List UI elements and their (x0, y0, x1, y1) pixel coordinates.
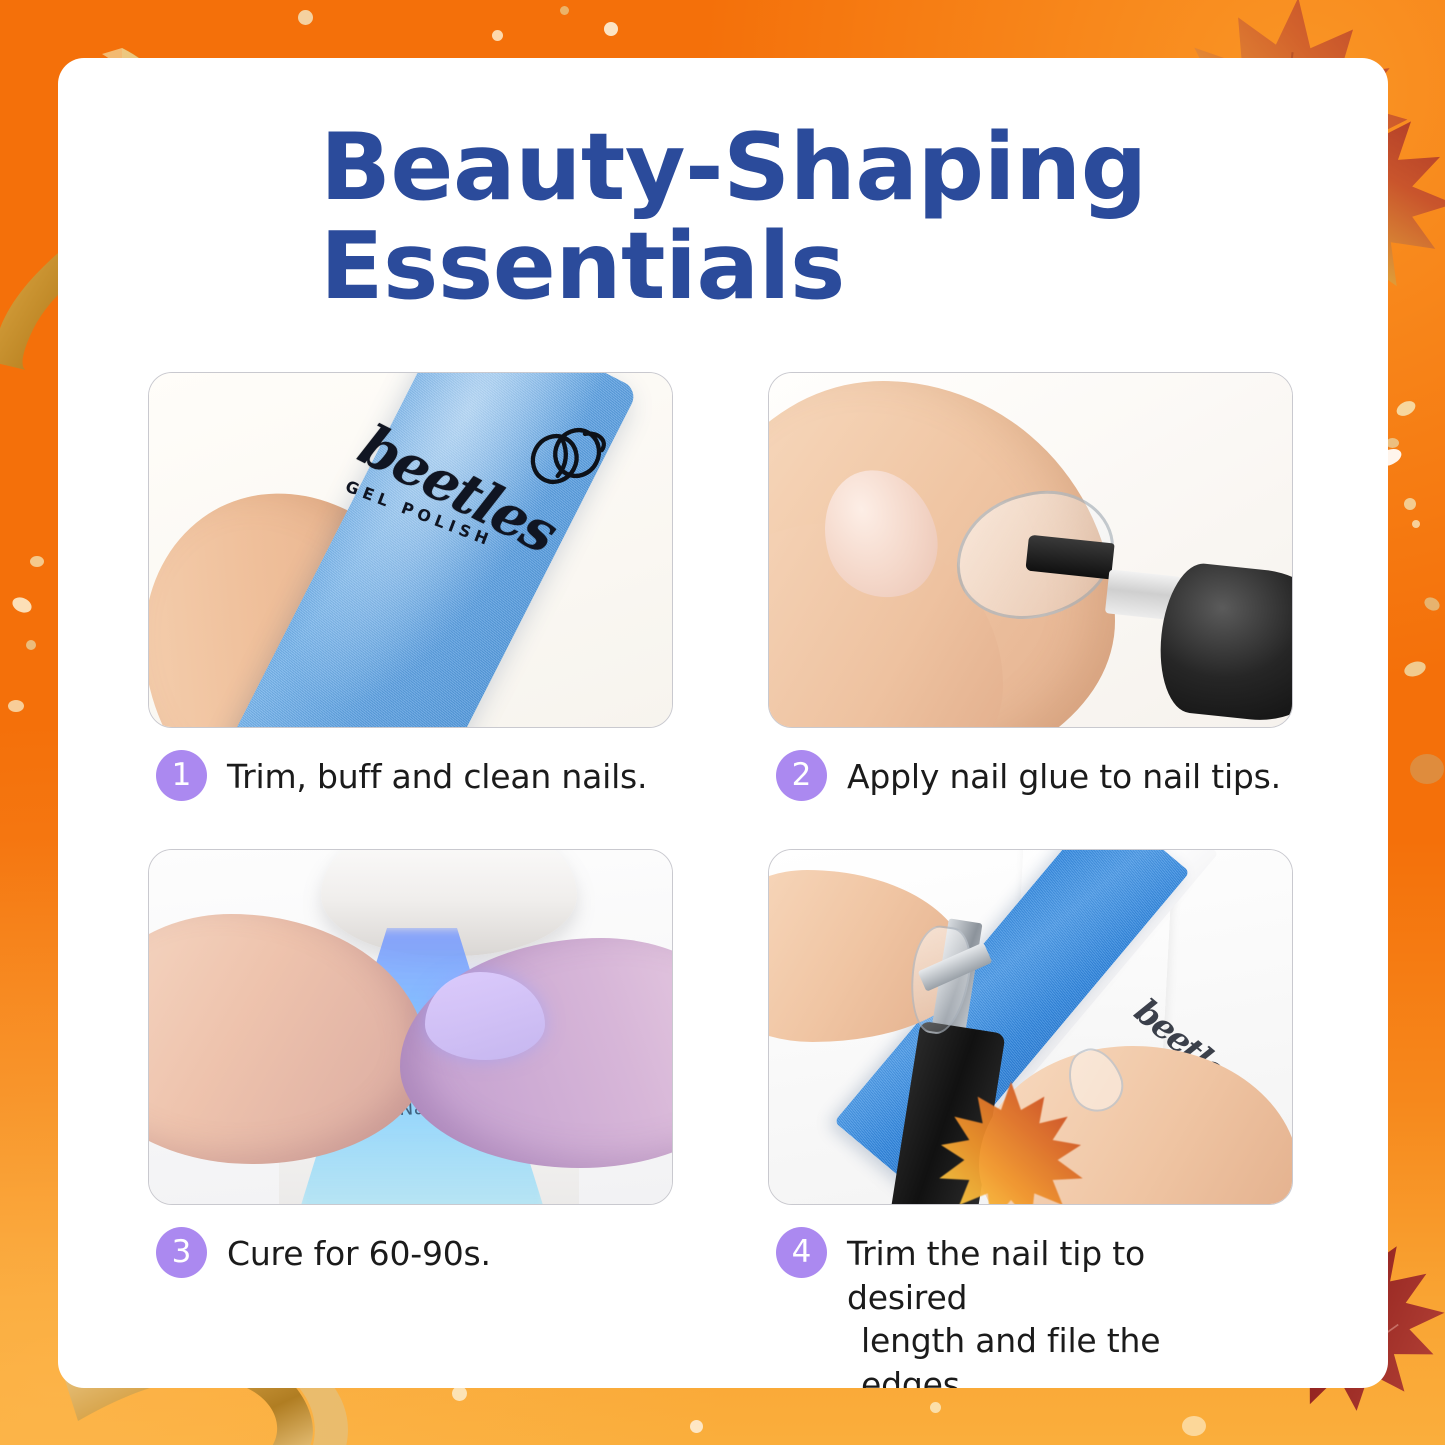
step-4-number-badge: 4 (776, 1227, 827, 1278)
step-4-caption: Trim the nail tip to desired length and … (847, 1227, 1267, 1388)
step-1-number-badge: 1 (156, 750, 207, 801)
step-3-caption-row: 3 Cure for 60-90s. (148, 1227, 673, 1278)
step-1-caption-row: 1 Trim, buff and clean nails. (148, 750, 673, 801)
step-2-photo (768, 372, 1293, 728)
step-4-caption-line-2: length and file the edges. (847, 1319, 1267, 1388)
step-item-1: beetles GEL POLISH 1 Trim, buff (148, 372, 673, 801)
content-card: Beauty-Shaping Essentials beetles GEL PO… (58, 58, 1388, 1388)
step-4-photo: beetles (768, 849, 1293, 1205)
maple-leaf-overlay-icon (921, 1080, 1101, 1205)
title-line-1: Beauty-Shaping (320, 118, 1330, 217)
step-item-3: Nails In, 3 Cure for 60-90s. (148, 849, 673, 1388)
steps-grid: beetles GEL POLISH 1 Trim, buff (148, 372, 1298, 1388)
step-1-caption: Trim, buff and clean nails. (227, 750, 647, 799)
title-line-2: Essentials (320, 217, 1330, 316)
step-2-number-badge: 2 (776, 750, 827, 801)
poster-canvas: Beauty-Shaping Essentials beetles GEL PO… (0, 0, 1445, 1445)
step-2-caption: Apply nail glue to nail tips. (847, 750, 1281, 799)
step-3-photo: Nails In, (148, 849, 673, 1205)
step-4-caption-row: 4 Trim the nail tip to desired length an… (768, 1227, 1293, 1388)
step-1-photo: beetles GEL POLISH (148, 372, 673, 728)
page-title: Beauty-Shaping Essentials (320, 118, 1330, 315)
step-3-number-badge: 3 (156, 1227, 207, 1278)
step-2-caption-row: 2 Apply nail glue to nail tips. (768, 750, 1293, 801)
step-item-4: beetles (768, 849, 1293, 1388)
step-3-caption: Cure for 60-90s. (227, 1227, 491, 1276)
step-item-2: 2 Apply nail glue to nail tips. (768, 372, 1293, 801)
step-4-caption-line-1: Trim the nail tip to desired (847, 1234, 1145, 1317)
